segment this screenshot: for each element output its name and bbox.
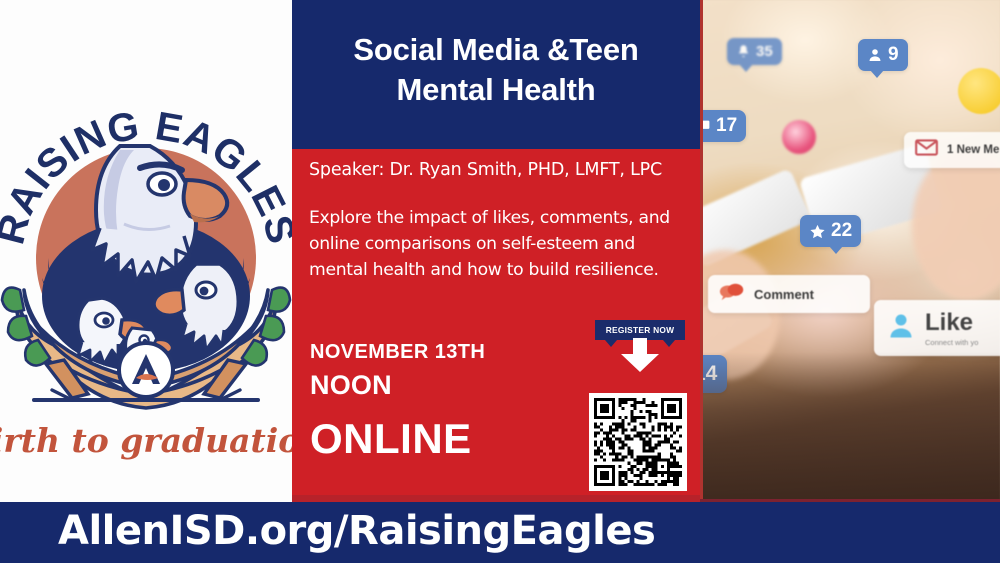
laughing-emoji-icon: [958, 68, 1000, 114]
qr-canvas: [594, 398, 682, 486]
eagle-logo-graphic: RAISING EAGLES birth to graduation: [0, 28, 292, 468]
notification-badge-person: 9: [858, 39, 908, 71]
footer-url[interactable]: AllenISD.org/RaisingEagles: [0, 502, 1000, 563]
star-icon: [809, 223, 826, 240]
notification-badge-bell: 35: [727, 38, 782, 65]
like-card-sub: Connect with yo: [925, 338, 978, 347]
event-description: Explore the impact of likes, comments, a…: [309, 205, 694, 283]
title-line-1: Social Media &Teen: [353, 32, 638, 67]
notification-badge-comment: 17: [700, 110, 746, 142]
photo-left-edge: [700, 0, 703, 502]
like-card-label: Like: [925, 309, 973, 336]
speaker-line: Speaker: Dr. Ryan Smith, PHD, LMFT, LPC: [309, 160, 689, 180]
badge-count: 9: [888, 44, 899, 66]
heart-dot-icon: [782, 120, 816, 154]
event-date: NOVEMBER 13TH: [310, 341, 485, 364]
svg-text:birth to graduation: birth to graduation: [0, 421, 292, 460]
badge-count: 22: [831, 220, 852, 242]
badge-count: 35: [756, 43, 773, 60]
bell-icon: [736, 44, 751, 59]
registration-qr-code[interactable]: [589, 393, 687, 491]
event-mode: ONLINE: [310, 418, 472, 460]
badge-tail: [739, 64, 753, 72]
message-card-label: 1 New Me: [947, 144, 999, 156]
badge-tail: [870, 70, 884, 78]
photo-panel: 35 9 17: [700, 0, 1000, 502]
red-divider: [292, 495, 700, 502]
photo-shadow-overlay: [700, 352, 1000, 502]
flyer-poster: RAISING EAGLES birth to graduation Socia…: [0, 0, 1000, 563]
raising-eagles-logo: RAISING EAGLES birth to graduation: [0, 28, 292, 468]
person-avatar-icon: [886, 311, 916, 346]
comment-card-label: Comment: [754, 287, 814, 302]
badge-count: 17: [716, 115, 737, 137]
chat-bubbles-icon: [719, 282, 745, 306]
register-now-label: REGISTER NOW: [595, 320, 685, 340]
message-card: 1 New Me: [904, 132, 1000, 168]
like-card: Like Connect with yo: [874, 300, 1000, 356]
badge-tail: [829, 246, 843, 254]
comment-card: Comment: [708, 275, 870, 313]
event-time: NOON: [310, 370, 392, 401]
message-icon: [915, 139, 938, 161]
person-icon: [867, 47, 883, 63]
down-arrow-icon: [619, 338, 661, 372]
page-title: Social Media &Teen Mental Health: [292, 30, 700, 109]
notification-badge-star: 22: [800, 215, 861, 247]
event-info-panel: Social Media &Teen Mental Health Speaker…: [292, 0, 700, 502]
allen-isd-emblem: [119, 343, 173, 397]
logo-panel: RAISING EAGLES birth to graduation: [0, 0, 292, 502]
footer-bar: AllenISD.org/RaisingEagles: [0, 502, 1000, 563]
like-card-text: Like Connect with yo: [925, 309, 978, 347]
title-line-2: Mental Health: [397, 72, 596, 107]
